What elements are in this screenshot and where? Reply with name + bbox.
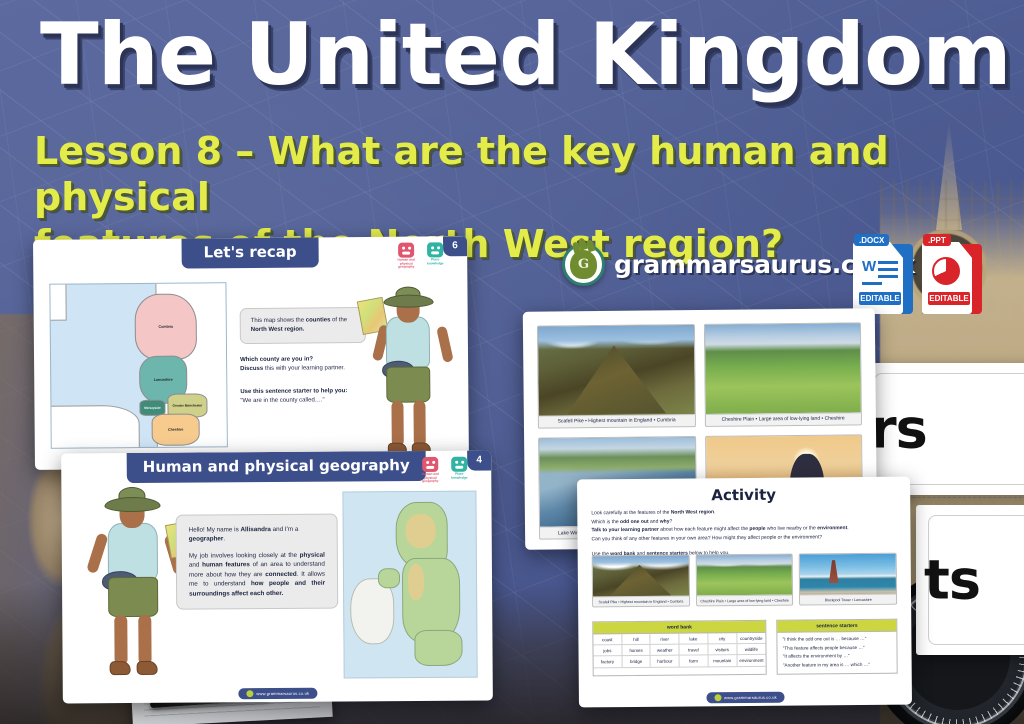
activity-title: Activity (577, 485, 910, 506)
photo-caption: Cheshire Plain • Large area of low-lying… (705, 412, 861, 426)
badge-label: Place knowledge (451, 472, 468, 480)
county-cheshire[interactable]: Cheshire (152, 413, 200, 445)
footer-logo-icon (246, 690, 253, 697)
map-north-ireland (378, 568, 400, 588)
explorer-character-allisandra (369, 284, 455, 461)
badge-human-physical-geography: Human and physical geography (418, 457, 442, 484)
north-west-counties-map: Cumbria Lancashire Greater Manchester Me… (49, 282, 227, 449)
ins3-f: . (847, 525, 848, 531)
ins2-why: why (660, 518, 670, 524)
word-bank-cell[interactable]: coast (593, 634, 622, 645)
ins3-d: who live nearby or the (766, 525, 818, 531)
explorer-leg-left (391, 401, 403, 447)
slide-footer: www.grammarsaurus.co.uk (706, 692, 785, 704)
word-icon: W (862, 258, 876, 275)
explorer-boot-right (137, 661, 158, 675)
job-connected: connected (265, 571, 297, 578)
sentence-starter-item: "Another feature in my area is … which …… (783, 661, 892, 671)
explorer-leg-left (114, 615, 127, 665)
sentence-starters-list: "I think the odd one out is … because …"… (778, 632, 897, 674)
ppt-editable-label: EDITABLE (928, 292, 970, 305)
partial-doc-students[interactable]: ts (916, 505, 1024, 655)
badge-human-physical-geography: Human and physical geography (394, 243, 418, 270)
activity-instructions: Look carefully at the features of the No… (591, 507, 896, 559)
photo-cheshire-plain (696, 555, 792, 596)
logo-badge-icon: G (562, 243, 605, 286)
explorer-hat-brim (104, 497, 160, 512)
slide-title-human-physical-geography: Human and physical geography (127, 451, 426, 483)
explorer-arm-right (436, 326, 454, 363)
partial-doc-teachers[interactable]: rs (862, 363, 1024, 495)
speech-text-d: the (339, 317, 347, 323)
photo-caption: Scafell Pike • Highest mountain in Engla… (539, 414, 695, 428)
sentence-starters-table: sentence starters "I think the odd one o… (776, 619, 897, 675)
word-bank-grid: coast hill river lake city countryside j… (593, 633, 766, 668)
badge-place-knowledge: Place knowledge (447, 457, 471, 481)
footer-url: www.grammarsaurus.co.uk (256, 691, 309, 696)
photo-cheshire-plain (704, 323, 860, 413)
map-land-nw-corner (49, 282, 66, 321)
explorer-leg-right (138, 615, 151, 665)
word-bank-cell[interactable]: bridge (622, 656, 651, 667)
file-format-badges: .DOCX W EDITABLE .PPT EDITABLE (853, 234, 982, 318)
ins2-e: ? (669, 518, 672, 524)
badge-label: Human and physical geography (397, 258, 414, 269)
job-human-features: human features (202, 562, 250, 569)
human-physical-geography-icon (422, 457, 438, 472)
explorer-hat-brim (383, 294, 433, 307)
intro-c: and I'm a (271, 526, 299, 533)
word-bank-cell[interactable]: countryside (737, 633, 766, 644)
page-title: The United Kingdom (40, 12, 1000, 100)
ins3-talk: Talk to your learning partner (591, 527, 658, 534)
doc-text-fragment: ts (924, 549, 980, 612)
word-bank-cell[interactable]: weather (651, 645, 680, 656)
slide-human-physical-geography[interactable]: Human and physical geography 4 Human and… (61, 451, 493, 704)
photo-card[interactable]: Scafell Pike • Highest mountain in Engla… (592, 554, 690, 607)
intro-e: . (223, 536, 225, 543)
ins1-a: Look carefully at the features of the (591, 510, 671, 517)
badge-label: Human and physical geography (422, 472, 439, 483)
photo-caption: Scafell Pike • Highest mountain in Engla… (593, 595, 689, 606)
docx-tag-label: .DOCX (854, 234, 889, 246)
explorer-shorts (108, 577, 158, 617)
question-which-county: Which county are you in? (240, 356, 313, 363)
explorer-leg-right (413, 400, 425, 446)
map-pennines (408, 564, 424, 600)
curriculum-badges: Human and physical geography Place knowl… (418, 457, 471, 484)
map-southern-england (414, 630, 462, 666)
word-bank-cell[interactable]: travel (680, 645, 709, 656)
word-bank-cell[interactable]: visitors (708, 644, 737, 655)
ins2-a: Which is the (591, 519, 620, 525)
ins3-environment: environment (817, 525, 847, 531)
doc-text-fragment: rs (870, 398, 927, 461)
slide-activity[interactable]: Activity Look carefully at the features … (577, 477, 912, 708)
ins1-c: . (714, 509, 715, 515)
speech-text-a: This map shows the (251, 318, 306, 324)
ins2-c: and (649, 518, 660, 524)
photo-card[interactable]: Cheshire Plain • Large area of low-lying… (695, 554, 793, 607)
speech-text-c: of (330, 317, 337, 323)
explorer-shorts (386, 366, 430, 402)
job-physical: physical (300, 552, 325, 559)
photo-card[interactable]: Cheshire Plain • Large area of low-lying… (703, 322, 862, 426)
ins2-odd: odd one out (620, 518, 649, 524)
docx-badge[interactable]: .DOCX W EDITABLE (853, 234, 913, 318)
job-a: My job involves looking closely at the (189, 552, 300, 560)
word-bank-cell[interactable]: harbour (651, 656, 680, 667)
sentence-starters-header: sentence starters (777, 620, 896, 633)
activity-support-tables: word bank coast hill river lake city cou… (592, 619, 897, 677)
ppt-badge[interactable]: .PPT EDITABLE (922, 234, 982, 318)
explorer-arm-left (86, 533, 109, 574)
word-bank-cell[interactable]: hill (622, 634, 651, 645)
badge-place-knowledge: Place knowledge (423, 242, 447, 266)
photo-caption: Blackpool Tower • Lancashire (800, 594, 896, 605)
county-cumbria[interactable]: Cumbria (134, 293, 197, 360)
slide-content: Let's recap 6 Human and physical geograp… (33, 236, 469, 470)
discussion-prompt: Which county are you in? Discuss this wi… (240, 355, 390, 374)
title-block: The United Kingdom Lesson 8 – What are t… (0, 0, 1024, 232)
photo-card[interactable]: Scafell Pike • Highest mountain in Engla… (537, 324, 696, 428)
human-physical-geography-icon (398, 243, 414, 258)
pie-chart-icon (932, 257, 960, 285)
speech-text-b: counties (306, 317, 331, 323)
intro-name: Allisandra (240, 526, 271, 533)
slide-footer: www.grammarsaurus.co.uk (238, 688, 317, 700)
starter-bold: Use this sentence starter to help you: (240, 388, 347, 395)
word-bank-table: word bank coast hill river lake city cou… (592, 620, 767, 676)
word-bank-cell[interactable]: mountain (708, 655, 737, 666)
photo-card[interactable]: Blackpool Tower • Lancashire (799, 553, 897, 606)
subtitle-line-1: Lesson 8 – What are the key human and ph… (34, 128, 994, 221)
word-bank-cell[interactable]: wildlife (737, 644, 766, 655)
explorer-character-allisandra (89, 483, 182, 682)
word-bank-cell[interactable]: river (651, 634, 680, 645)
photo-caption: Cheshire Plain • Large area of low-lying… (697, 595, 793, 606)
photo-blackpool-tower (800, 554, 896, 595)
ins1-region: North West region (671, 509, 714, 515)
dinosaur-icon: G (570, 250, 597, 279)
discuss-rest: this with your learning partner. (263, 365, 345, 372)
speech-paragraph-2: My job involves looking closely at the p… (189, 551, 325, 599)
job-c: and (189, 562, 202, 569)
intro-role: geographer (189, 536, 224, 543)
badge-label: Place knowledge (427, 257, 444, 265)
slide-lets-recap[interactable]: Let's recap 6 Human and physical geograp… (33, 236, 469, 470)
ppt-tag-label: .PPT (923, 234, 951, 246)
speech-paragraph-1: Hello! My name is Allisandra and I'm a g… (189, 525, 325, 545)
footer-logo-icon (714, 694, 721, 701)
docx-editable-label: EDITABLE (859, 292, 901, 305)
word-bank-cell[interactable]: environment (737, 655, 766, 666)
intro-a: Hello! My name is (189, 526, 241, 533)
speech-bubble-map-info: This map shows the counties of the North… (240, 307, 366, 344)
explorer-boot-left (110, 661, 131, 675)
map-scottish-highlands (406, 514, 436, 548)
slide-content: Human and physical geography 4 Human and… (61, 451, 493, 704)
photo-scafell-pike (538, 325, 694, 415)
speech-bubble-introduction: Hello! My name is Allisandra and I'm a g… (176, 514, 339, 610)
curriculum-badges: Human and physical geography Place knowl… (394, 242, 447, 269)
word-bank-cell[interactable]: homes (622, 645, 651, 656)
place-knowledge-icon (451, 457, 467, 472)
photo-scafell-pike (593, 555, 689, 596)
starter-quote: "We are in the county called…." (240, 397, 324, 404)
uk-relief-map (342, 491, 477, 679)
footer-url: www.grammarsaurus.co.uk (724, 695, 777, 700)
word-bank-cell[interactable]: farm (680, 656, 709, 667)
word-bank-cell[interactable]: lake (679, 633, 708, 644)
word-bank-cell[interactable]: city (708, 633, 737, 644)
word-bank-cell[interactable]: factory (594, 656, 623, 667)
map-land-wales (49, 405, 139, 449)
ins3-b: about how each feature might affect the (659, 526, 750, 533)
discuss-bold: Discuss (240, 366, 263, 372)
place-knowledge-icon (427, 242, 443, 257)
activity-photo-row: Scafell Pike • Highest mountain in Engla… (592, 553, 897, 608)
slide-title-lets-recap: Let's recap (182, 237, 319, 268)
speech-text-e: North West region. (251, 327, 305, 333)
ins3-people: people (749, 526, 765, 532)
word-bank-cell[interactable]: jobs (593, 645, 622, 656)
